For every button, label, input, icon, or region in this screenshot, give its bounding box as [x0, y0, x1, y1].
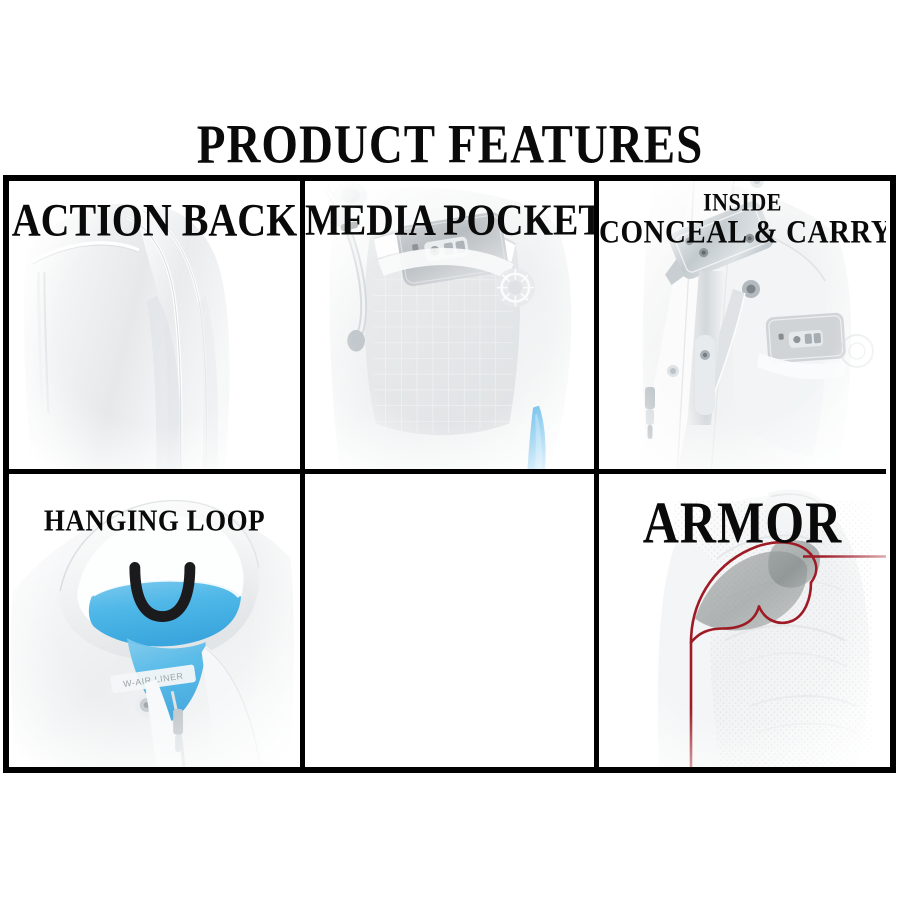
feature-cell-conceal-carry[interactable]: INSIDE CONCEAL & CARRY: [599, 181, 886, 474]
feature-cell-action-back[interactable]: ACTION BACK: [9, 181, 305, 474]
conceal-carry-photo: [599, 181, 886, 469]
media-pocket-photo: [305, 181, 594, 469]
armor-photo: [599, 474, 886, 767]
page-title: PRODUCT FEATURES: [0, 112, 900, 178]
hanging-loop-photo: W-AIR LINER: [9, 474, 300, 767]
feature-cell-media-pocket[interactable]: MEDIA POCKET: [305, 181, 599, 474]
feature-cell-blank: [305, 474, 599, 767]
feature-cell-armor[interactable]: ARMOR: [599, 474, 886, 767]
action-back-photo: [9, 181, 300, 469]
feature-cell-hanging-loop[interactable]: W-AIR LINER HANGING LOOP: [9, 474, 305, 767]
features-grid: ACTION BACK: [3, 175, 896, 773]
